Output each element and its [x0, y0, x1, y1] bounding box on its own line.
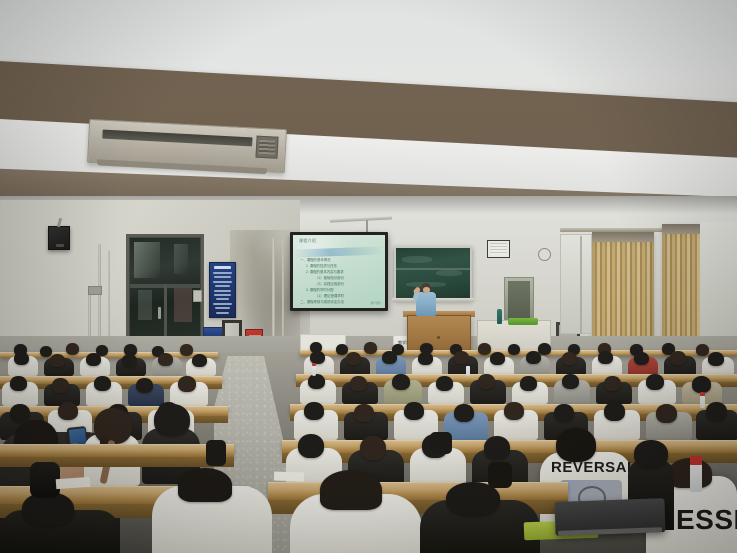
green-folder — [508, 318, 538, 325]
audience-head — [364, 342, 377, 354]
shirt-graphic-text: REVERSAL — [551, 459, 637, 476]
audience-head — [656, 404, 677, 423]
audience-head — [40, 346, 52, 357]
audience-head — [634, 440, 668, 468]
audience-head — [490, 352, 505, 365]
notice-board-header — [214, 266, 231, 269]
audience-head — [436, 376, 453, 391]
audience-head — [562, 374, 579, 389]
audience-head — [136, 378, 153, 393]
audience-head — [360, 436, 386, 460]
presenter-torso — [416, 292, 436, 316]
audience-head — [504, 402, 524, 420]
gray-wall-plate — [193, 290, 202, 302]
framed-notice — [487, 240, 510, 258]
audience-head — [52, 378, 69, 393]
board-track — [396, 268, 470, 270]
ceiling-air-conditioner — [87, 113, 288, 179]
audience-head — [10, 376, 27, 391]
door-handle[interactable] — [158, 307, 161, 319]
shirt-graphic-text: ESSE — [676, 504, 737, 536]
presenter-face — [423, 287, 430, 293]
backpack — [206, 440, 226, 466]
audience-head — [14, 352, 29, 365]
audience-head — [192, 354, 207, 367]
audience-head — [50, 354, 65, 367]
audience-head — [696, 344, 709, 356]
audience-head — [94, 376, 111, 391]
audience-head — [298, 434, 324, 458]
slide-bullet: （2）实践应用部分 — [315, 283, 344, 286]
water-bottle — [700, 396, 705, 408]
audience-head — [562, 352, 577, 365]
lectern-knob — [437, 336, 440, 339]
audience-head — [154, 404, 190, 436]
door-center-stile — [164, 284, 167, 342]
audience-head — [178, 376, 196, 392]
slide-bullet: 二、课程考核与成绩评定办法 — [300, 301, 344, 304]
water-bottle — [466, 366, 470, 376]
projection-screen: 课程介绍 一、课程的基本情况 1. 课程的性质与任务 2. 课程的基本内容与要求… — [293, 235, 385, 308]
audience-head — [520, 376, 537, 391]
wall-speaker — [48, 226, 70, 250]
wall-junction-box — [88, 286, 102, 295]
curtain-heading — [592, 232, 654, 242]
audience-head — [526, 351, 541, 364]
audience-head — [10, 404, 30, 422]
bottle-cap — [700, 392, 705, 396]
audience-head — [708, 352, 724, 366]
door-glass-reflection — [174, 244, 188, 274]
water-bottle — [497, 309, 502, 324]
ac-grill — [255, 136, 278, 159]
audience-head — [646, 374, 664, 390]
door-glass-lower — [138, 290, 152, 320]
audience-head — [382, 351, 397, 364]
bottle-cap — [312, 363, 316, 366]
audience-head — [86, 353, 101, 366]
audience-head — [478, 343, 491, 355]
window-glass — [700, 222, 737, 342]
audience-head — [308, 374, 325, 389]
slide-bullet: （1）基础知识部分 — [315, 277, 344, 280]
audience-head — [392, 374, 410, 390]
audience-head — [454, 404, 474, 422]
slide-bullet: 3. 课程的学时分配 — [306, 289, 334, 292]
water-bottle — [690, 464, 702, 492]
audience-head — [58, 402, 78, 420]
audience-head — [556, 428, 596, 462]
audience-head — [158, 353, 173, 366]
audience-head — [508, 344, 520, 355]
audience-head — [404, 402, 424, 420]
slide-bullet: 一、课程的基本情况 — [300, 259, 331, 262]
audience-head — [478, 374, 495, 389]
audience-head — [122, 354, 137, 367]
blue-notice-board — [209, 262, 236, 318]
bottle-cap — [690, 456, 702, 465]
audience-head — [350, 376, 367, 391]
water-bottle — [312, 366, 316, 376]
wall-conduit — [98, 244, 101, 350]
audience-head — [634, 352, 649, 365]
audience-head — [336, 344, 348, 355]
lecture-hall-photo: 课程介绍 一、课程的基本情况 1. 课程的性质与任务 2. 课程的基本内容与要求… — [0, 0, 737, 553]
audience-head — [346, 352, 361, 365]
left-entrance-door[interactable] — [129, 237, 201, 343]
audience-head — [304, 402, 324, 420]
desk-row — [0, 444, 234, 457]
projection-screen-frame: 课程介绍 一、课程的基本情况 1. 课程的性质与任务 2. 课程的基本内容与要求… — [290, 232, 388, 311]
audience-head — [66, 343, 79, 355]
audience-head — [320, 470, 382, 510]
audience-head — [178, 468, 232, 502]
slide-footer-logo: 教学课件 — [371, 301, 381, 305]
presenter — [414, 283, 438, 323]
chalk-smudge — [436, 270, 462, 276]
audience-head — [604, 376, 621, 391]
slide-bullet: （1）理论授课学时 — [315, 295, 344, 298]
presenter-hand — [413, 288, 419, 294]
audience-head — [554, 404, 574, 422]
chalk-smudge — [402, 256, 432, 263]
audience-head — [454, 351, 469, 364]
audience-head — [354, 404, 374, 422]
slide-bullet: 2. 课程的基本内容与要求 — [306, 271, 344, 274]
window-mullion — [580, 236, 582, 334]
door-glass-lower — [174, 288, 192, 322]
audience-head — [604, 402, 625, 421]
wall-clock — [538, 248, 551, 261]
backpack — [488, 462, 512, 488]
window-glass — [560, 234, 592, 334]
audience-head — [706, 402, 727, 421]
speaker-grille — [56, 244, 64, 247]
paper-sheet — [274, 471, 304, 481]
wall-conduit — [108, 250, 110, 350]
audience-head — [418, 352, 433, 365]
door-glass-reflection — [134, 242, 160, 278]
audience-head — [598, 351, 613, 364]
slide-title: 课程介绍 — [299, 238, 316, 244]
audience-head — [180, 344, 193, 356]
audience-head — [484, 436, 510, 460]
slide-bullet: 1. 课程的性质与任务 — [306, 265, 337, 268]
backpack — [430, 432, 452, 454]
audience-head — [692, 376, 711, 393]
audience-head — [670, 351, 686, 365]
